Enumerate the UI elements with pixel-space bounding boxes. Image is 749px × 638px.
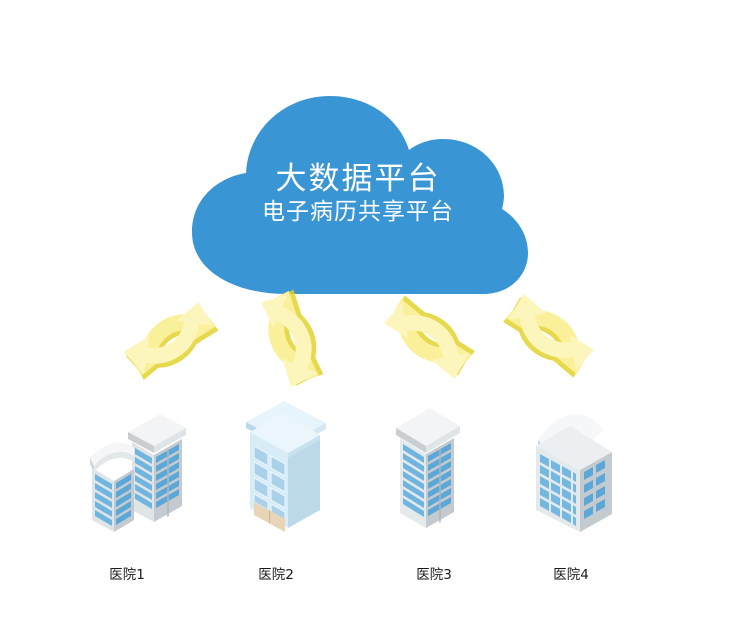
cloud-subtitle: 电子病历共享平台	[178, 200, 538, 226]
hospital-label-4: 医院4	[501, 563, 641, 583]
cloud-title: 大数据平台	[178, 162, 538, 197]
hospital-label-3: 医院3	[364, 563, 504, 583]
hospital-label-1: 医院1	[57, 563, 197, 583]
curved-roof-building-icon[interactable]	[518, 398, 620, 538]
sync-arrows-icon-2[interactable]	[242, 287, 338, 391]
twin-tower-building-icon[interactable]	[82, 398, 192, 538]
cloud-text-block: 大数据平台 电子病历共享平台	[178, 162, 538, 225]
big-data-platform-cloud[interactable]: 大数据平台 电子病历共享平台	[178, 88, 538, 294]
sync-arrows-icon-4[interactable]	[502, 282, 598, 386]
single-tower-building-icon[interactable]	[390, 400, 474, 536]
flat-roof-building-icon[interactable]	[240, 398, 332, 538]
hospital-label-2: 医院2	[206, 563, 346, 583]
diagram-canvas: 大数据平台 电子病历共享平台	[0, 0, 749, 638]
sync-arrows-icon-3[interactable]	[380, 287, 476, 391]
sync-arrows-icon-1[interactable]	[122, 287, 218, 391]
